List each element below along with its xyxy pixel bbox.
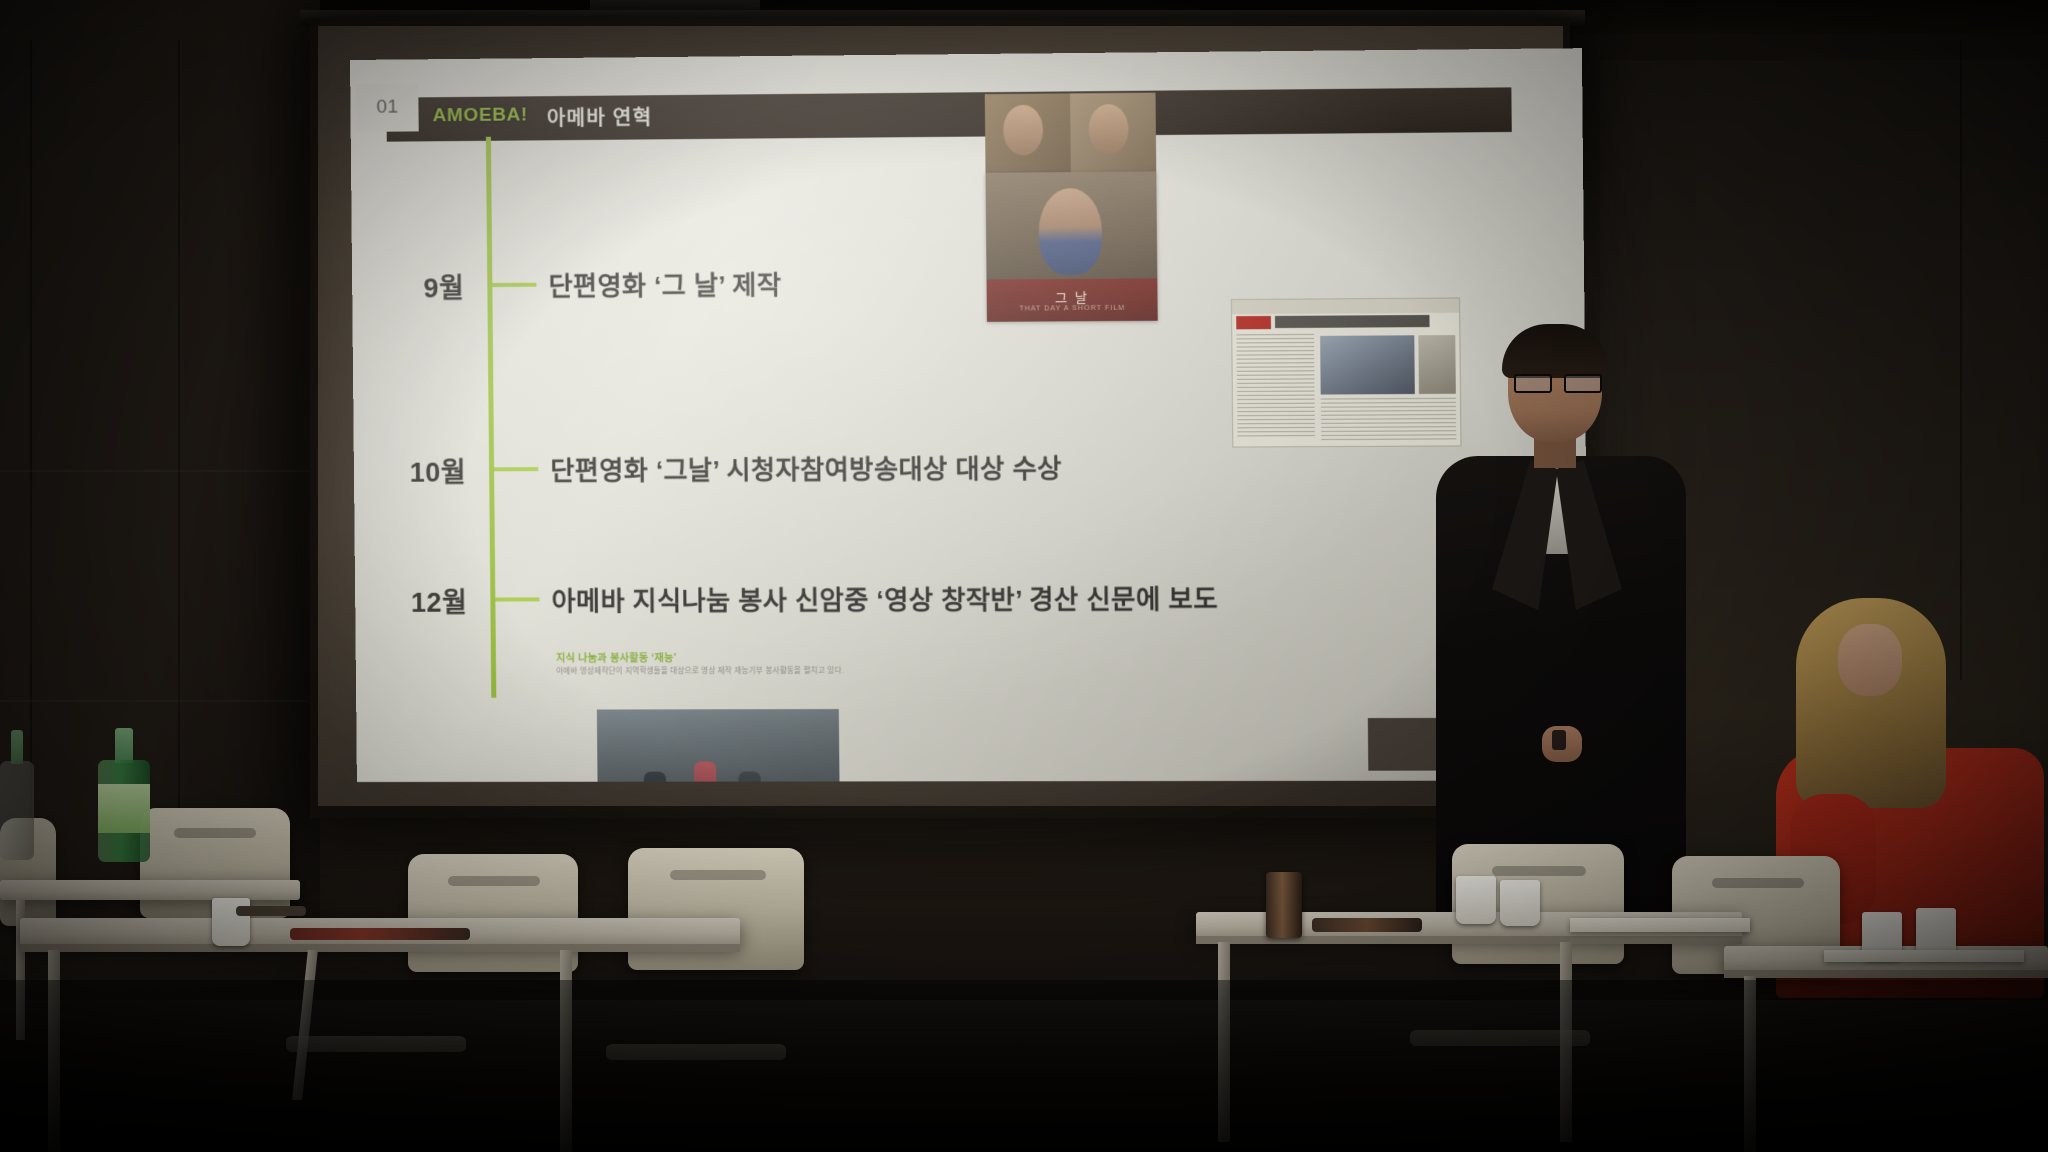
- newspaper-flag: [1236, 316, 1271, 329]
- timeline-tick: [492, 283, 536, 287]
- presenter-hair: [1502, 324, 1608, 378]
- projected-slide: 01 AMOEBA! 아메바 연혁 9월 단편영화 ‘그 날’ 제작 10월 단…: [350, 48, 1589, 790]
- table: [0, 880, 300, 900]
- volunteer-caption-title: 지식 나눔과 봉사활동 ‘재능’: [556, 649, 677, 664]
- coffee-can: [1266, 872, 1302, 938]
- timeline-tick: [494, 467, 538, 471]
- glasses-icon: [1514, 374, 1598, 389]
- table-clutter: [1312, 918, 1422, 932]
- chair-handle-slot: [1712, 878, 1804, 888]
- foreground-shadow: [0, 980, 2048, 1152]
- timeline-row: 12월 아메바 지식나눔 봉사 신암중 ‘영상 창작반’ 경산 신문에 보도: [355, 565, 1588, 630]
- timeline-month: 10월: [370, 450, 466, 489]
- bottle-neck: [11, 730, 23, 764]
- lecture-hall-photo: 01 AMOEBA! 아메바 연혁 9월 단편영화 ‘그 날’ 제작 10월 단…: [0, 0, 2048, 1152]
- volunteer-photo: [597, 709, 840, 782]
- bottle-body: [0, 761, 34, 860]
- photo-figure: [777, 777, 800, 782]
- newspaper-headline: [1275, 315, 1455, 328]
- audience-face: [1838, 624, 1902, 696]
- poster-title-band: 그 날 THAT DAY A SHORT FILM: [987, 278, 1158, 322]
- film-still-strip: [985, 93, 1157, 175]
- movie-poster-image: 그 날 THAT DAY A SHORT FILM: [986, 171, 1158, 321]
- poster-subject: [1038, 188, 1102, 275]
- timeline-month: 12월: [371, 580, 467, 619]
- table-edge: [20, 944, 740, 952]
- bottle-secondary: [0, 730, 34, 860]
- bottle-neck: [115, 728, 134, 763]
- newspaper-text-column: [1236, 334, 1315, 440]
- slide-section-number-box: 01: [356, 83, 418, 132]
- green-bottle: [98, 728, 150, 862]
- paper-cup: [1500, 880, 1540, 926]
- table-clutter: [290, 928, 470, 940]
- glasses-lens: [1514, 374, 1552, 393]
- timeline-text: 단편영화 ‘그날’ 시청자참여방송대상 대상 수상: [550, 448, 1062, 488]
- newspaper-photo: [1320, 335, 1415, 394]
- timeline-text: 단편영화 ‘그 날’ 제작: [548, 264, 781, 303]
- photo-figure: [644, 772, 667, 782]
- wall-seam: [1960, 40, 1962, 680]
- film-still: [1070, 93, 1156, 174]
- poster-title: 그 날: [987, 286, 1158, 306]
- papers: [1824, 950, 2024, 962]
- chair-handle-slot: [174, 828, 256, 838]
- chair: [408, 854, 578, 972]
- volunteer-caption-body: 아메바 영상제작단이 지역학생들을 대상으로 영상 제작 재능기부 봉사활동을 …: [556, 665, 858, 677]
- poster-photo: [986, 171, 1158, 279]
- slide-brand-label: AMOEBA!: [432, 104, 527, 127]
- glasses-lens: [1564, 374, 1602, 393]
- newspaper-clipping-image: [1231, 298, 1462, 448]
- chair-handle-slot: [1492, 866, 1586, 876]
- paper-cup: [1456, 876, 1496, 924]
- chair-handle-slot: [670, 870, 766, 880]
- poster-subtitle: THAT DAY A SHORT FILM: [987, 305, 1158, 313]
- photo-figure: [738, 771, 761, 782]
- presenter-figure: [1430, 330, 1710, 930]
- wall-seam: [178, 40, 180, 940]
- slide-canvas: 01 AMOEBA! 아메바 연혁 9월 단편영화 ‘그 날’ 제작 10월 단…: [350, 48, 1589, 782]
- newspaper-masthead: [1232, 299, 1459, 315]
- bottle-label: [98, 784, 150, 832]
- photo-figure: [694, 762, 717, 783]
- wall-seam: [0, 470, 320, 472]
- table-clutter: [236, 906, 306, 916]
- timeline-month: 9월: [368, 266, 464, 306]
- table-edge: [1724, 970, 2048, 978]
- papers: [1570, 918, 1750, 932]
- slide-section-number: 01: [376, 97, 398, 119]
- timeline-text: 아메바 지식나눔 봉사 신암중 ‘영상 창작반’ 경산 신문에 보도: [551, 578, 1218, 617]
- presentation-clicker: [1552, 730, 1566, 750]
- wall-seam: [0, 700, 320, 702]
- chair-handle-slot: [448, 876, 540, 886]
- film-still: [985, 93, 1071, 174]
- timeline-tick: [495, 597, 539, 601]
- slide-title: 아메바 연혁: [547, 101, 653, 131]
